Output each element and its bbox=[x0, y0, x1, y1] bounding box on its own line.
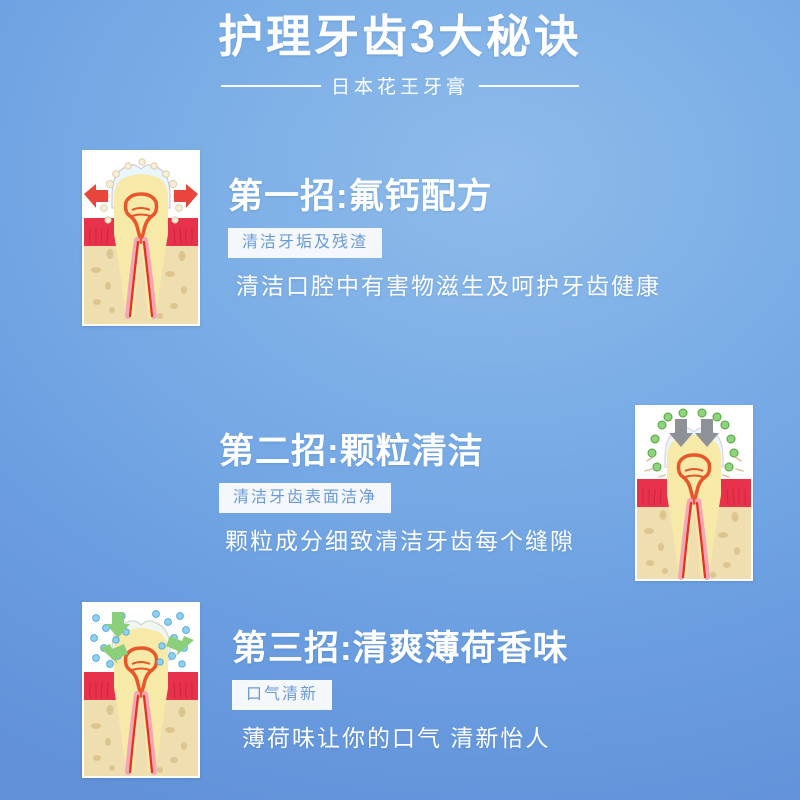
figure-slot-2 bbox=[635, 405, 753, 581]
section-1: 第一招:氟钙配方 清洁牙垢及残渣 清洁口腔中有害物滋生及呵护牙齿健康 bbox=[0, 138, 800, 338]
tooth-illustration-mint-fresh bbox=[82, 602, 200, 778]
page-subtitle: 日本花王牙膏 bbox=[331, 72, 469, 99]
section-2-description: 颗粒成分细致清洁牙齿每个缝隙 bbox=[225, 526, 575, 556]
page-title: 护理牙齿3大秘诀 bbox=[0, 8, 800, 66]
text-slot-3: 第三招:清爽薄荷香味 口气清新 薄荷味让你的口气 清新怡人 bbox=[232, 627, 569, 753]
figure-slot-1 bbox=[82, 150, 200, 326]
section-3-description: 薄荷味让你的口气 清新怡人 bbox=[242, 723, 569, 753]
section-1-description: 清洁口腔中有害物滋生及呵护牙齿健康 bbox=[236, 271, 661, 301]
poster-header: 护理牙齿3大秘诀 日本花王牙膏 bbox=[0, 8, 800, 99]
divider-right bbox=[479, 85, 579, 87]
section-2-heading: 第二招:颗粒清洁 bbox=[219, 430, 575, 474]
divider-left bbox=[221, 85, 321, 87]
section-1-heading: 第一招:氟钙配方 bbox=[228, 175, 661, 219]
figure-slot-3 bbox=[82, 602, 200, 778]
text-slot-2: 第二招:颗粒清洁 清洁牙齿表面洁净 颗粒成分细致清洁牙齿每个缝隙 bbox=[219, 430, 575, 556]
tooth-illustration-fluoride-calcium bbox=[82, 150, 200, 326]
poster-canvas: 护理牙齿3大秘诀 日本花王牙膏 bbox=[0, 0, 800, 800]
section-3-heading: 第三招:清爽薄荷香味 bbox=[232, 627, 569, 671]
section-3: 第三招:清爽薄荷香味 口气清新 薄荷味让你的口气 清新怡人 bbox=[0, 592, 800, 787]
tooth-illustration-granule-clean bbox=[635, 405, 753, 581]
section-2: 第二招:颗粒清洁 清洁牙齿表面洁净 颗粒成分细致清洁牙齿每个缝隙 bbox=[0, 390, 800, 595]
subtitle-row: 日本花王牙膏 bbox=[0, 72, 800, 99]
section-2-badge: 清洁牙齿表面洁净 bbox=[219, 483, 391, 513]
section-3-badge: 口气清新 bbox=[232, 680, 332, 710]
text-slot-1: 第一招:氟钙配方 清洁牙垢及残渣 清洁口腔中有害物滋生及呵护牙齿健康 bbox=[228, 175, 661, 301]
section-1-badge: 清洁牙垢及残渣 bbox=[228, 228, 382, 258]
